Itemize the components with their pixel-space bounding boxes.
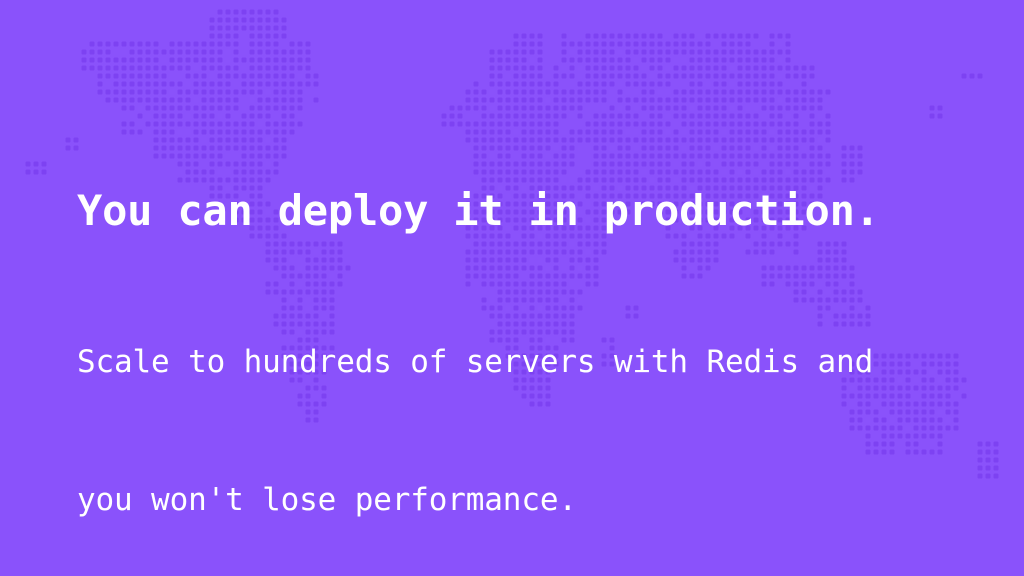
slide-text-block: You can deploy it in production. Scale t… [77,186,977,576]
slide-body-copy: Scale to hundreds of servers with Redis … [77,236,977,576]
slide-headline: You can deploy it in production. [77,186,977,236]
body-line: you won't lose performance. [77,477,977,523]
presentation-slide: You can deploy it in production. Scale t… [0,0,1024,576]
body-line: Scale to hundreds of servers with Redis … [77,339,977,385]
